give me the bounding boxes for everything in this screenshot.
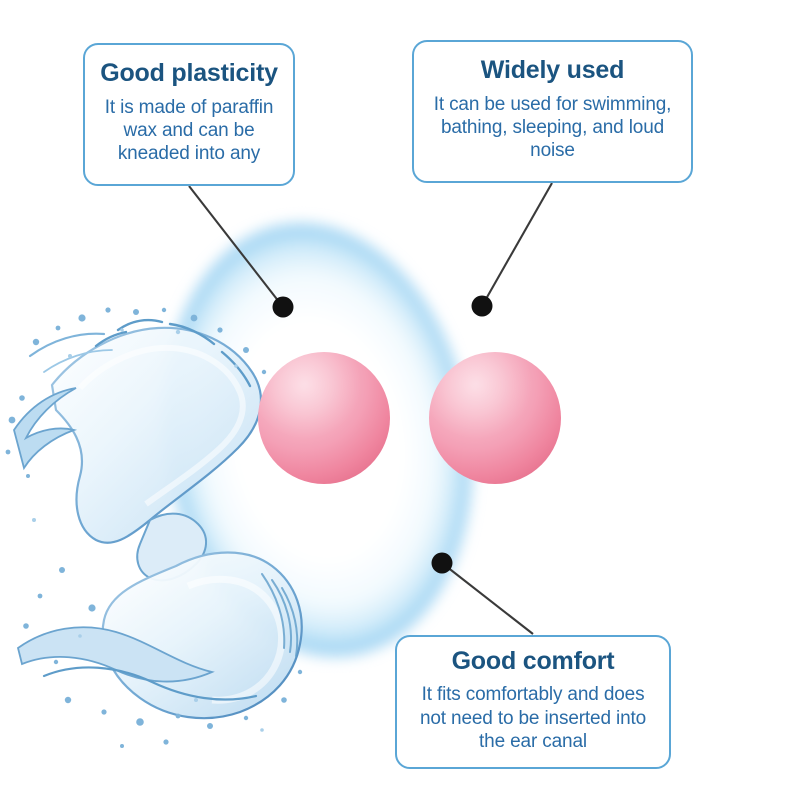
callout-body: It fits comfortably and does not need to… [409,683,657,753]
callout-title: Good comfort [452,647,615,677]
callout-body: It can be used for swimming, bathing, sl… [426,93,679,163]
callout-title: Good plasticity [100,59,278,89]
product-infographic: Good plasticity It is made of paraffin w… [0,0,800,800]
leader-good-comfort [432,553,534,635]
leader-widely-used [472,183,553,317]
callout-title: Widely used [481,56,624,86]
callout-widely-used: Widely used It can be used for swimming,… [412,40,693,183]
callout-good-comfort: Good comfort It fits comfortably and doe… [395,635,671,769]
callout-body: It is made of paraffin wax and can be kn… [97,96,281,166]
callout-good-plasticity: Good plasticity It is made of paraffin w… [83,43,295,186]
leader-good-plasticity [189,186,294,318]
